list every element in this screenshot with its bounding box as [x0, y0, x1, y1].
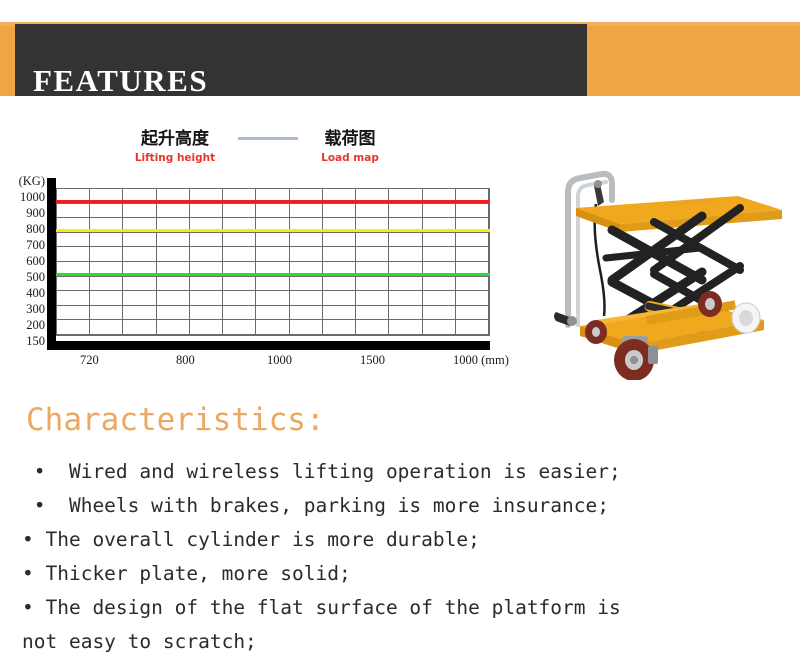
y-tick-1000: 1000 [20, 191, 45, 204]
chart-y-axis-labels: (KG) 1000 900 800 700 600 500 400 300 20… [0, 175, 45, 355]
load-chart: 起升高度 Lifting height 载荷图 Load map (KG) 10… [0, 105, 545, 380]
grid-cell [323, 320, 356, 335]
grid-cell [190, 306, 223, 321]
grid-cell [123, 291, 156, 306]
grid-cell [456, 320, 489, 335]
grid-cell [90, 204, 123, 219]
characteristics-heading: Characteristics: [26, 400, 325, 440]
grid-cell [123, 277, 156, 292]
grid-cell [123, 320, 156, 335]
grid-cell [456, 291, 489, 306]
grid-cell [223, 233, 256, 248]
x-tick-1500: 1500 [360, 353, 385, 367]
y-tick-700: 700 [26, 239, 45, 252]
grid-cell [57, 277, 90, 292]
grid-cell [356, 233, 389, 248]
grid-cell [223, 306, 256, 321]
grid-cell [356, 277, 389, 292]
y-tick-500: 500 [26, 271, 45, 284]
grid-cell [323, 247, 356, 262]
grid-cell [389, 291, 422, 306]
grid-cell [123, 306, 156, 321]
grid-cell [389, 320, 422, 335]
y-tick-150: 150 [26, 335, 45, 348]
grid-cell [456, 204, 489, 219]
grid-cell [256, 247, 289, 262]
legend-label-cn-load-map: 载荷图 [290, 129, 410, 149]
grid-cell [157, 233, 190, 248]
characteristics-list: • Wired and wireless lifting operation i… [22, 455, 782, 659]
grid-cell [223, 277, 256, 292]
grid-cell [290, 320, 323, 335]
chart-plot-area [47, 183, 490, 341]
grid-cell [456, 247, 489, 262]
grid-cell [389, 204, 422, 219]
grid-cell [256, 291, 289, 306]
series-line-1000kg [56, 200, 490, 203]
list-item: • The overall cylinder is more durable; [22, 523, 782, 557]
grid-cell [423, 233, 456, 248]
grid-cell [356, 291, 389, 306]
grid-cell [90, 306, 123, 321]
handle-icon [554, 174, 612, 326]
grid-cell [157, 247, 190, 262]
y-tick-600: 600 [26, 255, 45, 268]
grid-cell [123, 233, 156, 248]
grid-cell [323, 277, 356, 292]
grid-cell [57, 247, 90, 262]
scissor-lift-illustration [550, 140, 798, 380]
grid-cell [223, 204, 256, 219]
grid-cell [356, 204, 389, 219]
grid-cell [90, 320, 123, 335]
y-tick-300: 300 [26, 303, 45, 316]
grid-cell [256, 277, 289, 292]
grid-cell [323, 306, 356, 321]
grid-cell [389, 277, 422, 292]
legend-line-swatch [238, 137, 298, 140]
list-item: • Thicker plate, more solid; [22, 557, 782, 591]
chart-x-axis-labels: 720 800 1000 1500 1000 (mm) [47, 353, 542, 373]
grid-cell [57, 204, 90, 219]
grid-cell [157, 320, 190, 335]
legend-label-cn-lifting-height: 起升高度 [115, 129, 235, 149]
y-tick-200: 200 [26, 319, 45, 332]
grid-cell [256, 233, 289, 248]
grid-cell [90, 277, 123, 292]
grid-cell [190, 277, 223, 292]
product-image-scissor-lift-table [550, 140, 798, 380]
grid-cell [323, 233, 356, 248]
series-line-500kg [56, 273, 490, 276]
x-tick-1000: 1000 [267, 353, 292, 367]
grid-cell [423, 306, 456, 321]
grid-cell [256, 204, 289, 219]
grid-cell [290, 204, 323, 219]
y-tick-900: 900 [26, 207, 45, 220]
grid-cell [290, 233, 323, 248]
grid-cell [356, 247, 389, 262]
chart-legend: 起升高度 Lifting height 载荷图 Load map [105, 129, 405, 177]
grid-cell [157, 291, 190, 306]
x-tick-720: 720 [80, 353, 99, 367]
series-line-800kg [56, 229, 490, 232]
y-tick-400: 400 [26, 287, 45, 300]
grid-cell [290, 247, 323, 262]
grid-cell [423, 247, 456, 262]
grid-cell [157, 306, 190, 321]
grid-cell [90, 233, 123, 248]
grid-cell [323, 204, 356, 219]
grid-cell [423, 277, 456, 292]
grid-cell [389, 247, 422, 262]
grid-cell [456, 306, 489, 321]
grid-cell [190, 204, 223, 219]
grid-cell [356, 306, 389, 321]
features-header: FEATURES [0, 22, 800, 96]
x-tick-1000-mm: 1000 (mm) [453, 353, 509, 367]
grid-cell [256, 306, 289, 321]
y-axis-unit-label: (KG) [19, 175, 45, 188]
grid-cell [223, 247, 256, 262]
grid-cell [123, 247, 156, 262]
grid-cell [57, 320, 90, 335]
grid-cell [123, 204, 156, 219]
grid-cell [456, 233, 489, 248]
grid-cell [190, 291, 223, 306]
grid-cell [256, 320, 289, 335]
grid-cell [57, 306, 90, 321]
legend-item-load-map: 载荷图 Load map [290, 129, 410, 165]
chart-x-axis-bar [47, 341, 490, 350]
chart-grid [56, 188, 490, 336]
page-title: FEATURES [33, 65, 208, 96]
grid-cell [57, 233, 90, 248]
grid-cell [190, 233, 223, 248]
grid-cell [423, 204, 456, 219]
y-tick-800: 800 [26, 223, 45, 236]
grid-cell [356, 320, 389, 335]
list-item: • The design of the flat surface of the … [22, 591, 782, 625]
legend-label-en-load-map: Load map [290, 151, 410, 165]
grid-cell [423, 320, 456, 335]
platform-top [576, 196, 782, 232]
legend-item-lifting-height: 起升高度 Lifting height [115, 129, 235, 165]
grid-cell [423, 291, 456, 306]
grid-cell [223, 291, 256, 306]
list-item: • Wired and wireless lifting operation i… [22, 455, 782, 489]
grid-cell [389, 306, 422, 321]
legend-label-en-lifting-height: Lifting height [115, 151, 235, 165]
grid-cell [290, 306, 323, 321]
grid-cell [157, 277, 190, 292]
grid-cell [290, 291, 323, 306]
grid-cell [190, 247, 223, 262]
grid-cell [57, 291, 90, 306]
grid-cell [90, 247, 123, 262]
grid-cell [323, 291, 356, 306]
grid-cell [290, 277, 323, 292]
grid-cell [456, 277, 489, 292]
grid-cell [190, 320, 223, 335]
grid-cell [389, 233, 422, 248]
grid-cell [90, 291, 123, 306]
grid-cell [223, 320, 256, 335]
list-item: not easy to scratch; [22, 625, 782, 659]
list-item: • Wheels with brakes, parking is more in… [22, 489, 782, 523]
x-tick-800: 800 [176, 353, 195, 367]
grid-cell [157, 204, 190, 219]
